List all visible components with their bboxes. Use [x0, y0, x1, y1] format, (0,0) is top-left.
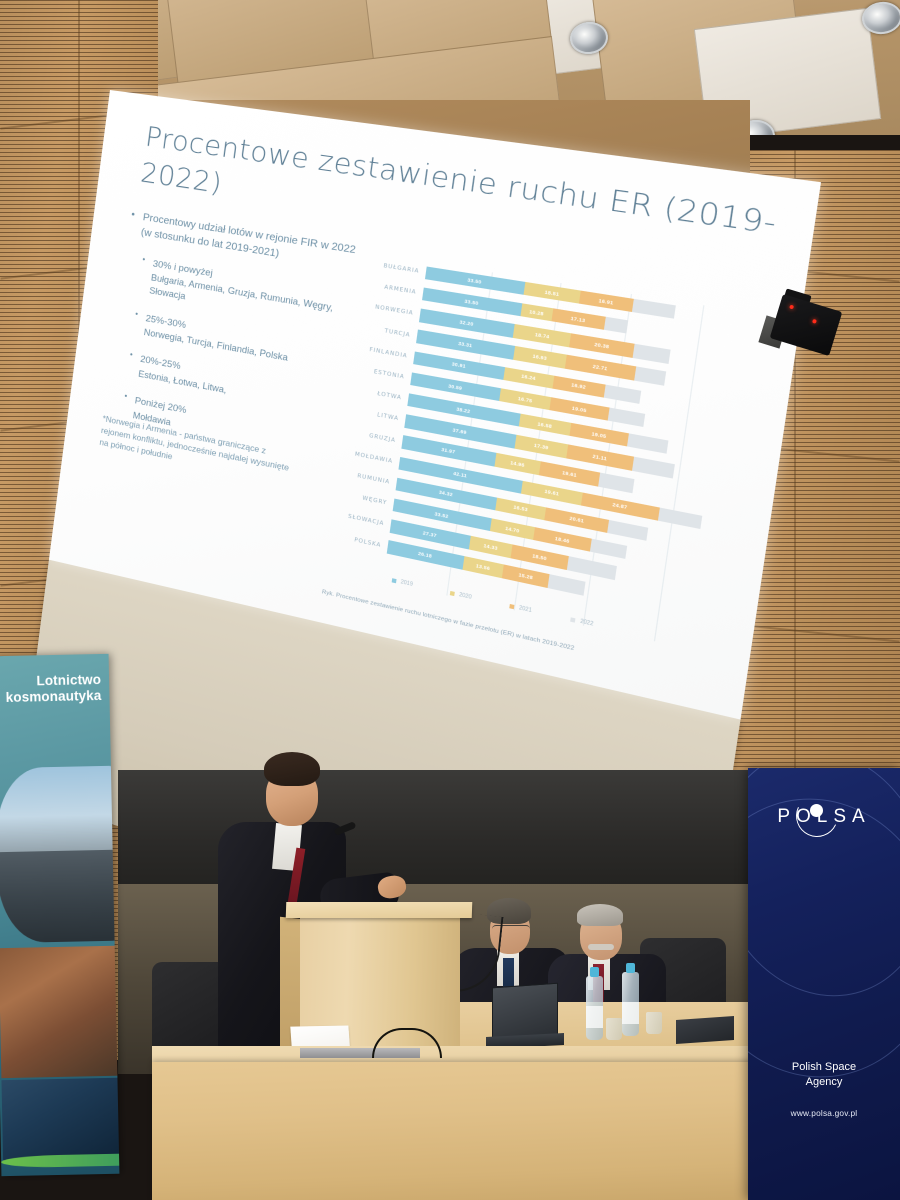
chart-segment-2021: 15.28: [502, 565, 550, 588]
chart-segment-2020: 10.28: [520, 303, 553, 321]
chart-legend-item: 2022: [570, 616, 593, 627]
legend-label: 2019: [400, 579, 413, 588]
chart-segment-2022: [631, 299, 675, 319]
banner-left-photo-airport: [0, 766, 117, 943]
chart-legend-item: 2019: [391, 577, 413, 588]
chart-bar-rows: BUŁGARIA33.5018.5116.91ARMENIA33.5010.28…: [320, 252, 778, 632]
laptop-screen: [492, 983, 558, 1040]
panelist-two-mustache: [588, 944, 614, 950]
legend-swatch: [450, 591, 455, 596]
banner-left-line2: kosmonautyka: [6, 688, 102, 705]
polsa-subtitle-line2: Agency: [806, 1076, 843, 1088]
chart-legend-item: 2021: [509, 603, 532, 614]
banner-left-photo-mars: [0, 946, 119, 1078]
water-bottle-1: [586, 976, 603, 1040]
legend-label: 2022: [580, 618, 594, 627]
chart-segment-2022: [603, 317, 627, 334]
legend-swatch: [571, 617, 576, 622]
legend-swatch: [510, 604, 515, 609]
chart-segment-2022: [632, 344, 670, 364]
projector-led-2: [812, 319, 817, 324]
banner-left-line1: Lotnictwo: [36, 672, 101, 688]
drinking-glass-1: [606, 1018, 622, 1040]
speaker-hair: [264, 752, 320, 786]
chart-legend-item: 2020: [450, 590, 472, 601]
banner-lotnictwo-kosmonautyka: Lotnictwo kosmonautyka: [0, 654, 119, 1176]
chart-segment-2022: [608, 407, 646, 427]
laptop-secondary: [676, 1016, 734, 1044]
water-bottle-2: [622, 972, 639, 1036]
chart-segment-2022: [604, 384, 642, 404]
drinking-glass-2: [646, 1012, 662, 1034]
polsa-url: www.polsa.gov.pl: [748, 1108, 900, 1118]
bottle-label: [622, 1002, 639, 1024]
banner-left-title: Lotnictwo kosmonautyka: [0, 672, 108, 706]
polsa-subtitle: Polish Space Agency: [748, 1060, 900, 1090]
panelist-two-hair: [577, 904, 623, 926]
bottle-label: [586, 1006, 603, 1028]
chart-category-label: BUŁGARIA: [358, 259, 426, 276]
chart-segment-2022: [628, 433, 669, 454]
podium-top-surface: [286, 902, 473, 918]
chart-segment-2022: [599, 473, 635, 493]
projector-led-1: [789, 305, 794, 310]
legend-label: 2020: [459, 592, 472, 601]
stage-dark-band: [118, 770, 748, 890]
legend-label: 2021: [518, 605, 532, 614]
stacked-bar-chart: BUŁGARIA33.5018.5116.91ARMENIA33.5010.28…: [315, 252, 778, 673]
chart-segment-2022: [634, 367, 666, 386]
polsa-wordmark: POLSA: [748, 806, 900, 828]
polsa-subtitle-line1: Polish Space: [792, 1061, 856, 1073]
legend-swatch: [392, 578, 397, 583]
chart-segment-2022: [607, 520, 647, 541]
chart-segment-2020: 13.56: [462, 556, 504, 578]
conference-hall-photo: Procentowe zestawienie ruchu ER (2019-20…: [0, 0, 900, 1200]
banner-polsa: POLSA Polish Space Agency www.polsa.gov.…: [748, 768, 900, 1200]
chart-segment-2022: [548, 575, 586, 596]
banner-left-photo-control-room: [1, 1078, 119, 1160]
chart-segment-2022: [589, 539, 627, 560]
